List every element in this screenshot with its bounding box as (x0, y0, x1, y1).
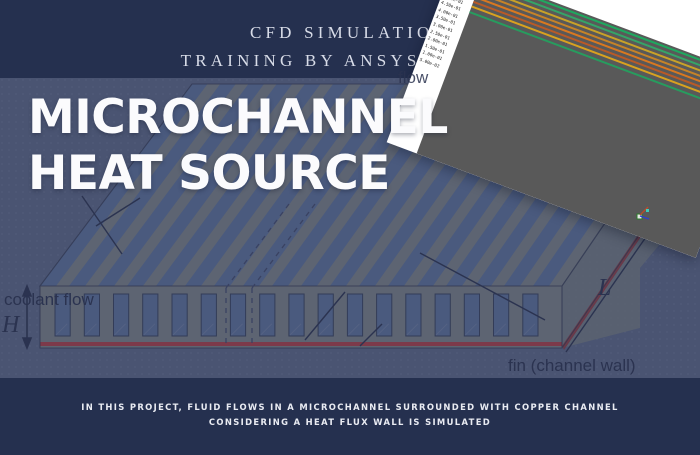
axis-triad-icon (631, 203, 651, 223)
label-height-H: H (2, 312, 19, 339)
poster-canvas: CFD SIMULATION TRAINING BY ANSYS FLUENT (0, 0, 700, 455)
channel-cross-section (464, 294, 479, 336)
channel-cross-section (494, 294, 509, 336)
title-line-1: MICROCHANNEL (28, 90, 448, 146)
label-fin-channel-wall: fin (channel wall) (508, 356, 636, 376)
channel-cross-section (143, 294, 158, 336)
channel-cross-section (172, 294, 187, 336)
channel-cross-section (201, 294, 216, 336)
label-length-L: L (598, 275, 611, 302)
channel-cross-section (260, 294, 275, 336)
front-channels (55, 294, 538, 336)
title-line-2: HEAT SOURCE (28, 146, 448, 202)
footer-caption: IN THIS PROJECT, FLUID FLOWS IN A MICROC… (70, 400, 630, 430)
footer: IN THIS PROJECT, FLUID FLOWS IN A MICROC… (0, 378, 700, 455)
heat-flux-base-strip (40, 342, 562, 346)
channel-cross-section (377, 294, 392, 336)
channel-cross-section (406, 294, 421, 336)
contour-bands (483, 0, 700, 80)
label-coolant-flow: coolant flow (4, 290, 94, 310)
channel-cross-section (114, 294, 129, 336)
label-flow: flow (398, 68, 428, 88)
channel-cross-section (289, 294, 304, 336)
channel-cross-section (230, 294, 245, 336)
channel-cross-section (435, 294, 450, 336)
channel-cross-section (347, 294, 362, 336)
page-title: MICROCHANNEL HEAT SOURCE (28, 90, 448, 202)
